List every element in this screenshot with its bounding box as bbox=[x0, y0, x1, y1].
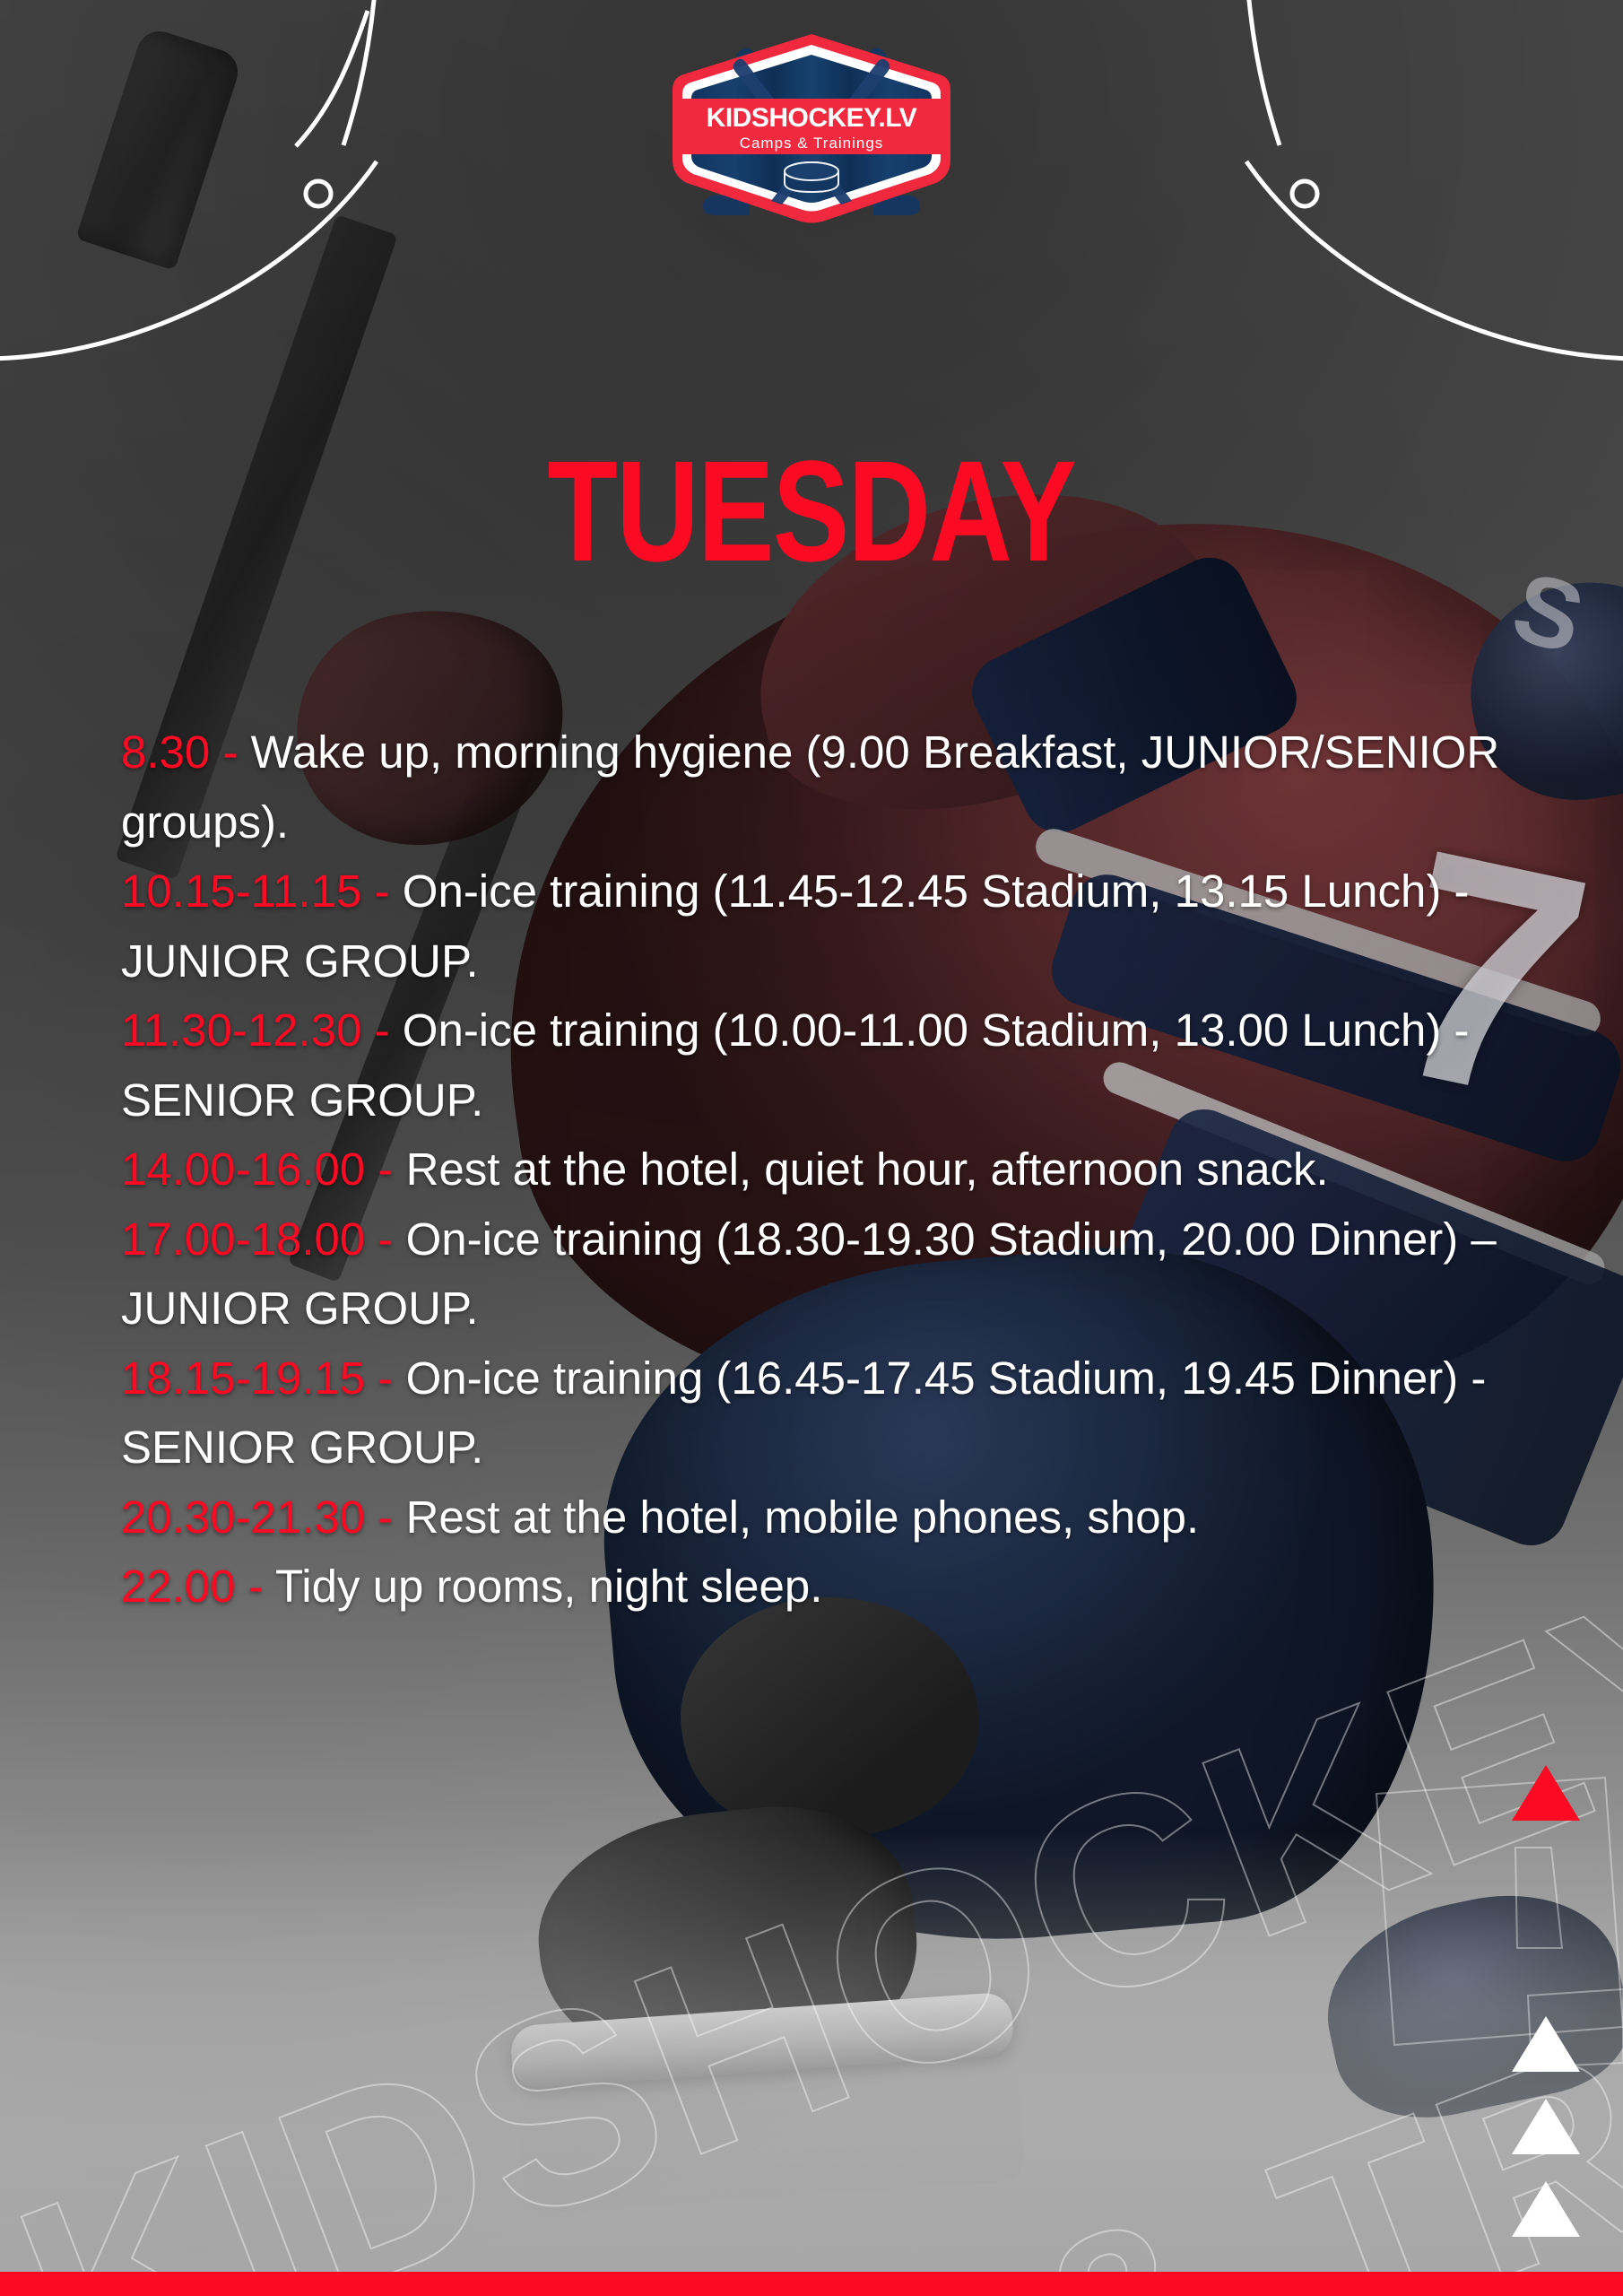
schedule-time: 18.15-19.15 bbox=[121, 1352, 365, 1404]
schedule-description: Rest at the hotel, quiet hour, afternoon… bbox=[406, 1144, 1329, 1195]
schedule-time: 10.15-11.15 bbox=[121, 865, 361, 917]
schedule-time: 14.00-16.00 bbox=[121, 1144, 365, 1195]
schedule-item: 14.00-16.00 - Rest at the hotel, quiet h… bbox=[121, 1135, 1538, 1205]
schedule-separator: - bbox=[248, 1561, 264, 1612]
schedule-separator: - bbox=[378, 1352, 393, 1404]
triangle-marker-red bbox=[1512, 1765, 1580, 1821]
schedule-time: 22.00 bbox=[121, 1561, 236, 1612]
triangle-marker-white bbox=[1512, 2181, 1580, 2237]
logo-title-text: KIDSHOCKEY.LV bbox=[707, 103, 917, 133]
schedule-time: 11.30-12.30 bbox=[121, 1004, 361, 1056]
schedule-time: 17.00-18.00 bbox=[121, 1213, 365, 1265]
schedule-item: 20.30-21.30 - Rest at the hotel, mobile … bbox=[121, 1483, 1538, 1552]
schedule-description: Wake up, morning hygiene (9.00 Breakfast… bbox=[121, 726, 1499, 848]
schedule-separator: - bbox=[378, 1213, 393, 1265]
schedule-description: Rest at the hotel, mobile phones, shop. bbox=[406, 1492, 1200, 1543]
schedule-item: 11.30-12.30 - On-ice training (10.00-11.… bbox=[121, 996, 1538, 1135]
schedule-separator: - bbox=[378, 1492, 393, 1543]
poster-canvas: S 7 KIDSHOCKEY.LV CAMPS & TRAININGS bbox=[0, 0, 1623, 2296]
schedule-item: 8.30 - Wake up, morning hygiene (9.00 Br… bbox=[121, 717, 1538, 857]
schedule-item: 10.15-11.15 - On-ice training (11.45-12.… bbox=[121, 857, 1538, 996]
schedule-item: 18.15-19.15 - On-ice training (16.45-17.… bbox=[121, 1344, 1538, 1483]
schedule-separator: - bbox=[222, 726, 238, 778]
bottom-accent-bar bbox=[0, 2272, 1623, 2296]
hockey-puck-icon bbox=[785, 162, 838, 192]
schedule-item: 22.00 - Tidy up rooms, night sleep. bbox=[121, 1552, 1538, 1622]
logo-subtitle-text: Camps & Trainings bbox=[740, 135, 884, 152]
triangle-marker-white bbox=[1512, 2016, 1580, 2072]
schedule-item: 17.00-18.00 - On-ice training (18.30-19.… bbox=[121, 1205, 1538, 1344]
day-title: TUESDAY bbox=[162, 439, 1461, 583]
schedule-time: 20.30-21.30 bbox=[121, 1492, 365, 1543]
schedule-list: 8.30 - Wake up, morning hygiene (9.00 Br… bbox=[121, 717, 1538, 1622]
schedule-time: 8.30 bbox=[121, 726, 210, 778]
kidshockey-logo[interactable]: KIDSHOCKEY.LV Camps & Trainings bbox=[664, 25, 959, 231]
schedule-separator: - bbox=[375, 1004, 390, 1056]
triangle-marker-white bbox=[1512, 2099, 1580, 2154]
schedule-description: Tidy up rooms, night sleep. bbox=[275, 1561, 822, 1612]
schedule-separator: - bbox=[375, 865, 390, 917]
schedule-separator: - bbox=[378, 1144, 393, 1195]
